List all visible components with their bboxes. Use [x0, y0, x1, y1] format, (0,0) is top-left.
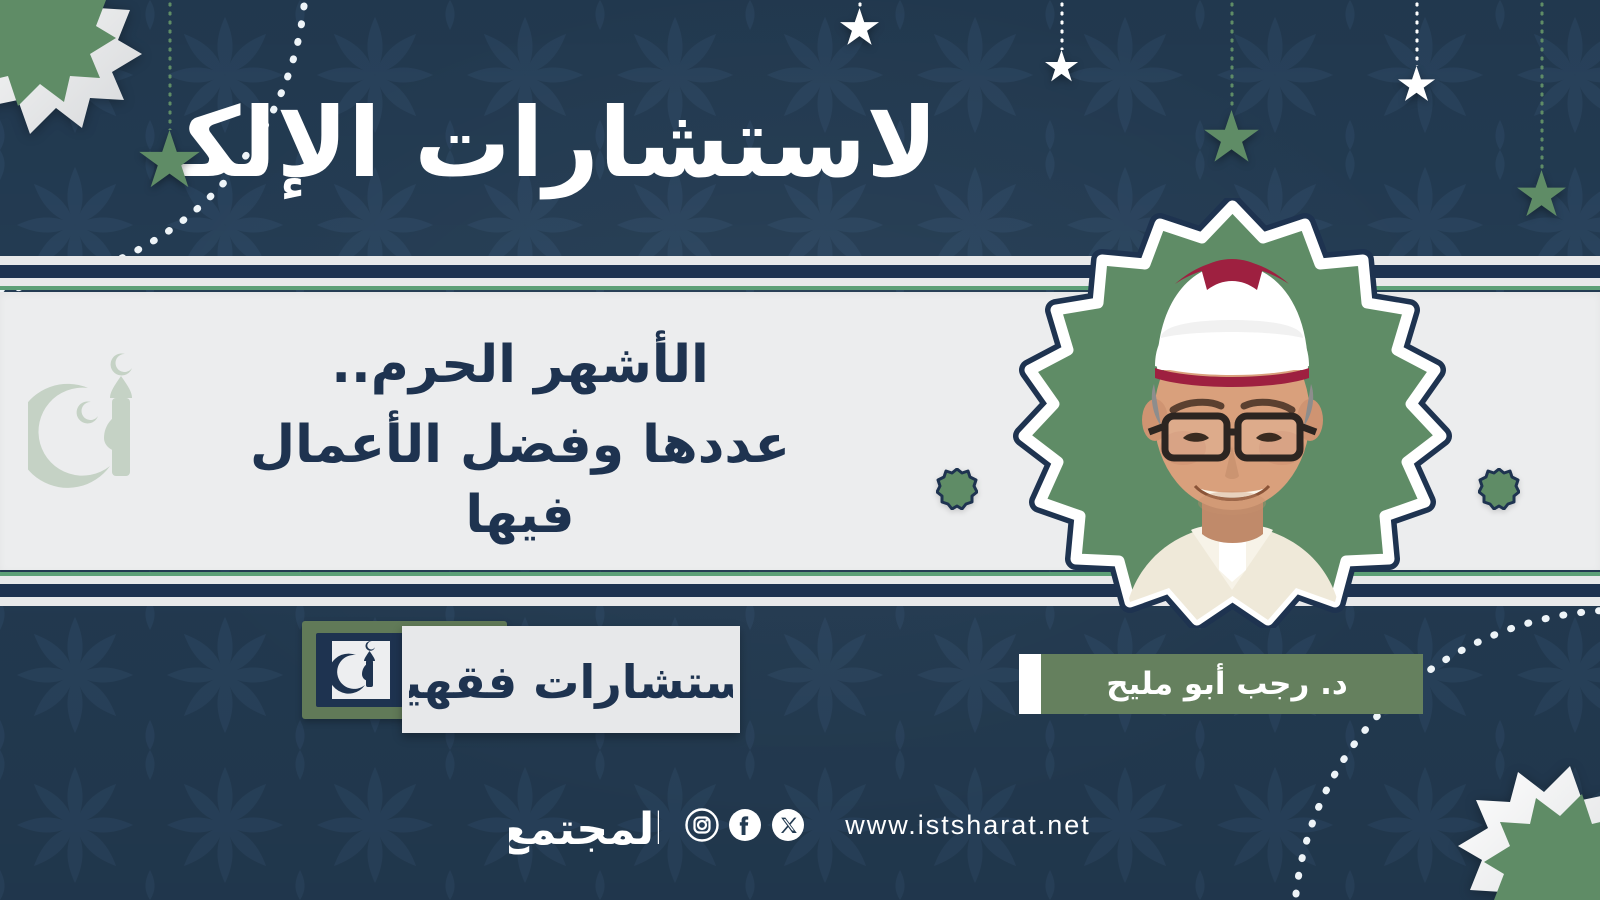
speaker-portrait — [1005, 198, 1460, 628]
star-shape-icon — [1204, 110, 1260, 166]
star-string — [168, 0, 171, 130]
title-line-2: عددها وفضل الأعمال فيها — [200, 410, 840, 550]
consult-badge: استشارات فقهية — [302, 621, 740, 733]
watermark-crescent-minaret-icon — [28, 346, 168, 516]
consult-badge-crescent-minaret-icon — [332, 641, 390, 699]
consult-badge-panel: استشارات فقهية — [402, 626, 740, 733]
band-rosette-dot-right — [1478, 468, 1520, 510]
star-shape-icon — [1398, 66, 1436, 104]
star-string — [1060, 0, 1063, 50]
social-links — [685, 808, 805, 842]
nameplate-accent-bar — [1019, 654, 1041, 714]
consult-badge-calligraphy-text: استشارات فقهية — [409, 656, 733, 710]
star-shape-icon — [139, 130, 201, 192]
star-string — [1540, 0, 1543, 170]
instagram-icon[interactable] — [685, 808, 719, 842]
website-url[interactable]: www.istsharat.net — [845, 810, 1091, 841]
star-shape-icon — [1045, 50, 1079, 84]
footer: المجتمع — [0, 770, 1600, 880]
star-string — [858, 0, 861, 8]
band-rosette-dot-left — [936, 468, 978, 510]
main-title: الأشهر الحرم.. عددها وفضل الأعمال فيها — [200, 330, 840, 551]
star-shape-icon — [1517, 170, 1567, 220]
footer-brand-text: المجتمع — [509, 804, 659, 855]
star-string — [1415, 0, 1418, 66]
speaker-nameplate: د. رجب أبو مليح — [1019, 654, 1423, 714]
title-line-1: الأشهر الحرم.. — [200, 330, 840, 400]
nameplate-body: د. رجب أبو مليح — [1041, 654, 1423, 714]
poster-canvas: بوابة الاستشارات الإلكترونية — [0, 0, 1600, 900]
x-twitter-icon[interactable] — [771, 808, 805, 842]
footer-brand-calligraphy: المجتمع — [509, 782, 659, 868]
star-string — [1230, 0, 1233, 110]
header-calligraphy-text: بوابة الاستشارات الإلكترونية — [180, 87, 940, 200]
speaker-name: د. رجب أبو مليح — [1106, 666, 1358, 702]
facebook-icon[interactable] — [728, 808, 762, 842]
star-shape-icon — [840, 8, 880, 48]
header-calligraphy: بوابة الاستشارات الإلكترونية — [180, 58, 940, 228]
